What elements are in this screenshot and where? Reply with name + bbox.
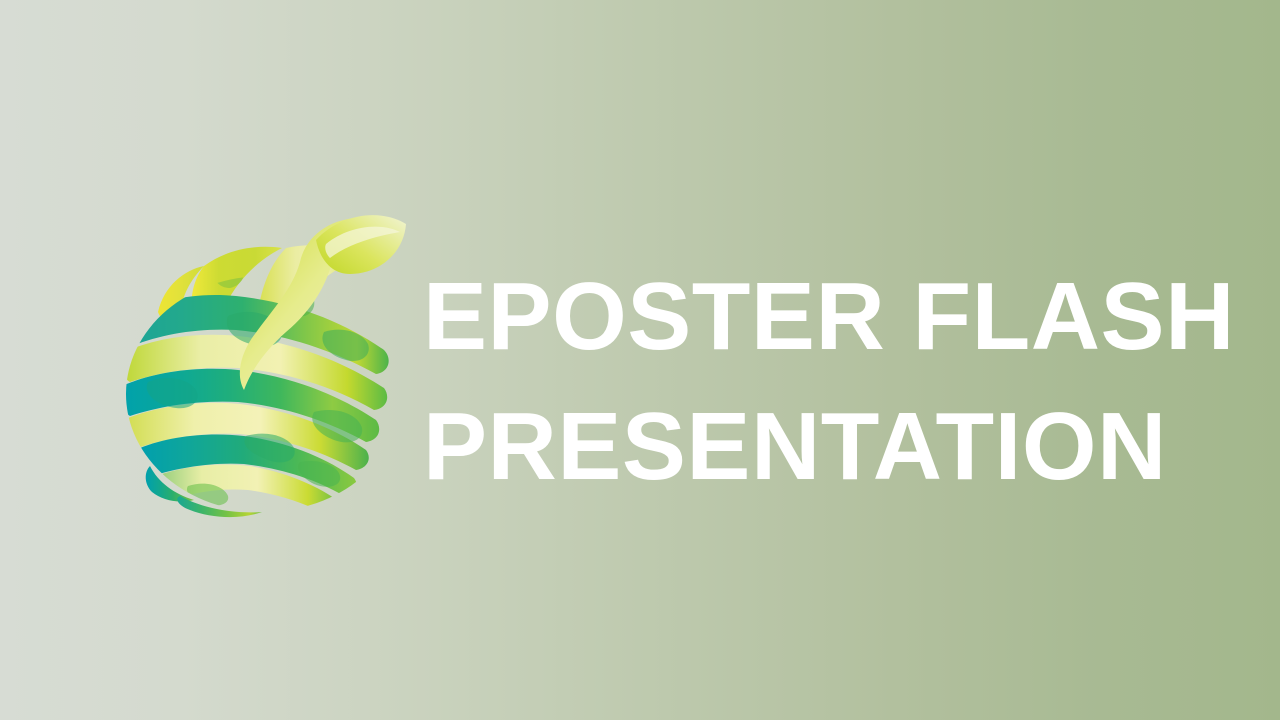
title-line-2: PRESENTATION bbox=[423, 382, 1213, 512]
title-line-1: EPOSTER FLASH bbox=[423, 252, 1213, 382]
slide-canvas: EPOSTER FLASH PRESENTATION bbox=[0, 0, 1280, 720]
spiral-globe-leaf-logo bbox=[118, 200, 410, 518]
slide-title: EPOSTER FLASH PRESENTATION bbox=[423, 252, 1213, 512]
